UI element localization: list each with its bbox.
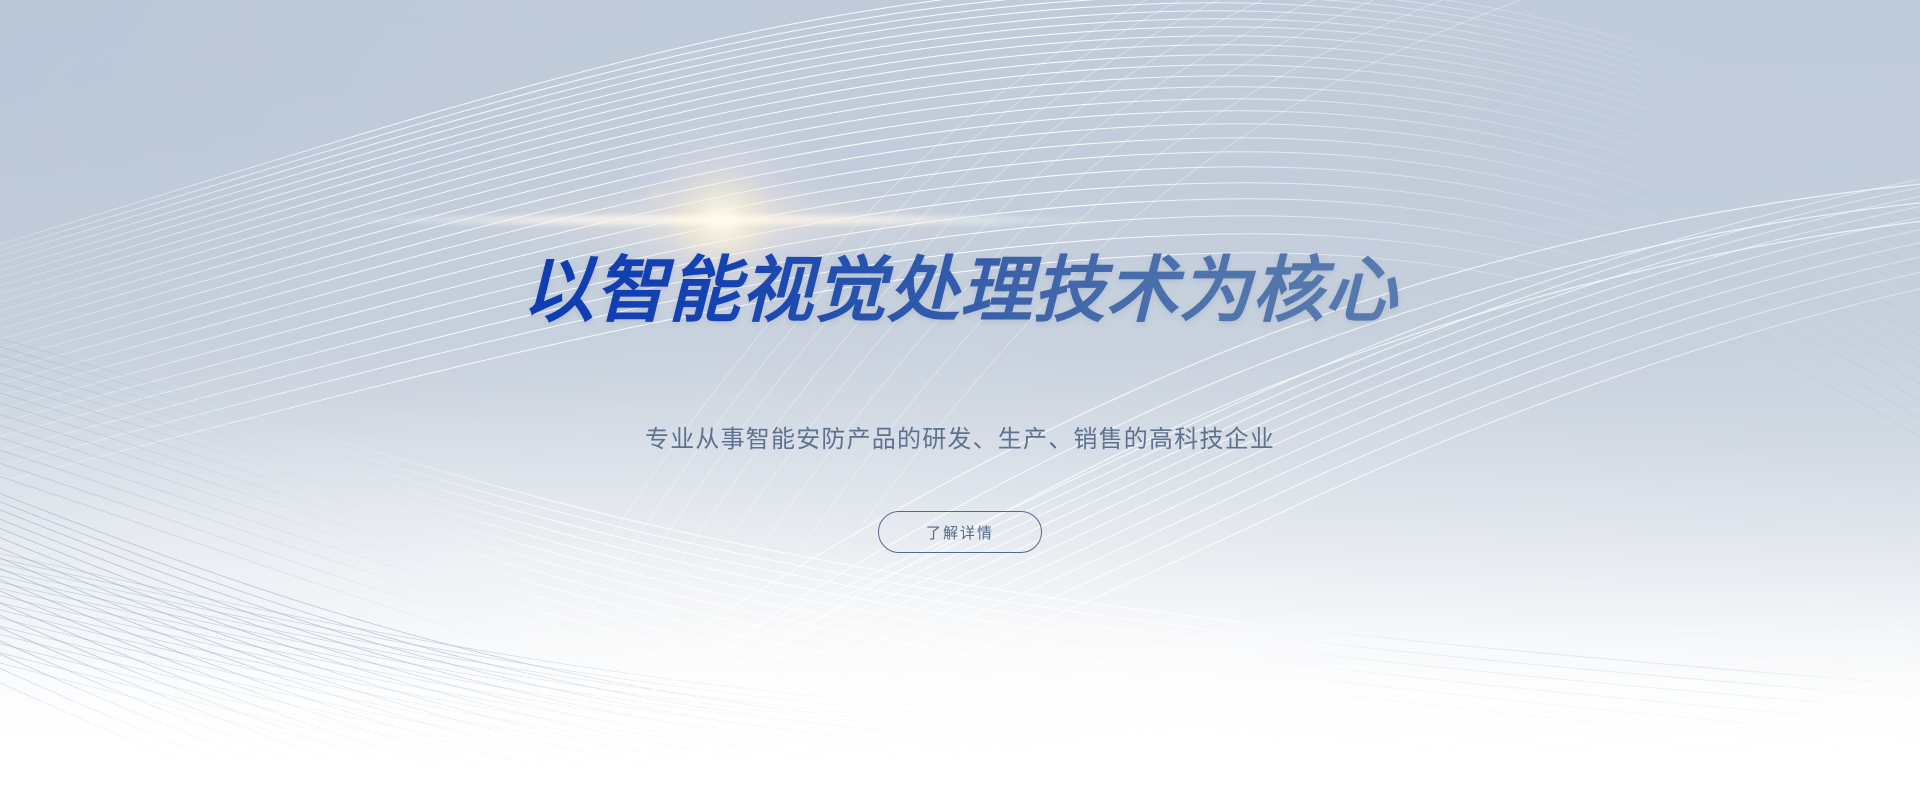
hero-content: 以智能视觉处理技术为核心 专业从事智能安防产品的研发、生产、销售的高科技企业 了… — [0, 0, 1920, 800]
page-title: 以智能视觉处理技术为核心 — [0, 248, 1920, 332]
learn-more-button[interactable]: 了解详情 — [878, 511, 1042, 553]
hero-subtitle: 专业从事智能安防产品的研发、生产、销售的高科技企业 — [0, 422, 1920, 456]
cta-container: 了解详情 — [0, 511, 1920, 553]
hero-banner: 以智能视觉处理技术为核心 专业从事智能安防产品的研发、生产、销售的高科技企业 了… — [0, 0, 1920, 800]
